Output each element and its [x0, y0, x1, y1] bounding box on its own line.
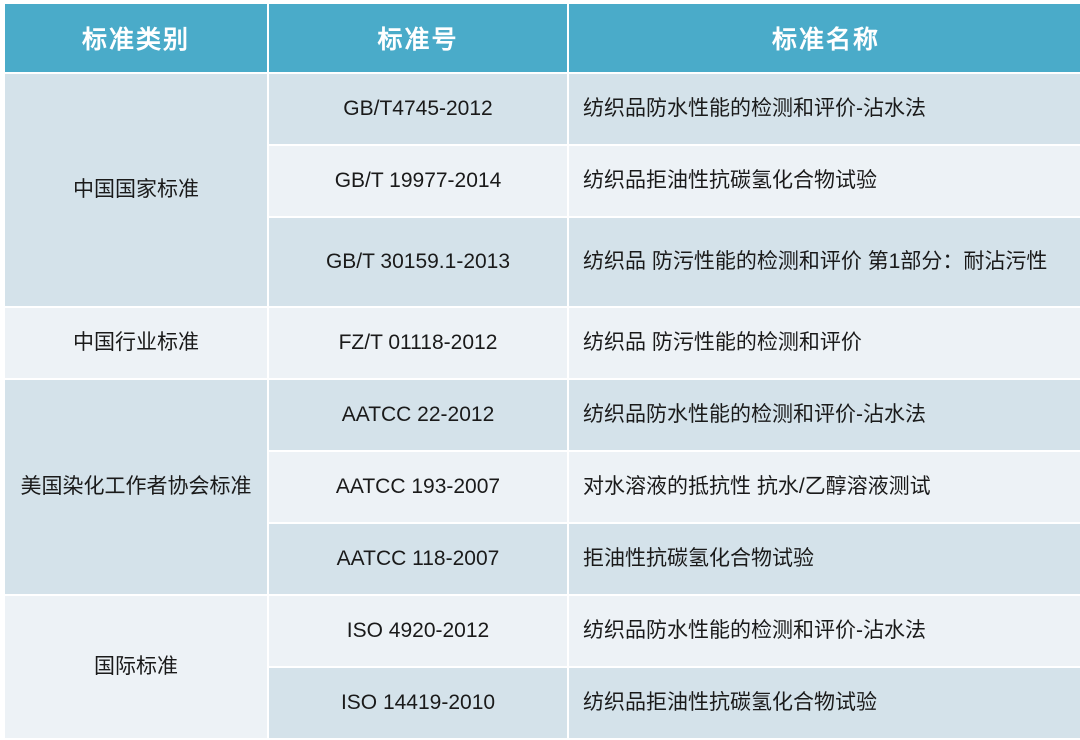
standards-table-container: 标准类别 标准号 标准名称 中国国家标准GB/T4745-2012纺织品防水性能… — [0, 0, 1080, 697]
column-header-number: 标准号 — [269, 4, 567, 72]
category-cell: 中国国家标准 — [5, 74, 267, 306]
standard-number-cell: FZ/T 01118-2012 — [269, 308, 567, 378]
standard-name-cell: 纺织品 防污性能的检测和评价 — [569, 308, 1080, 378]
standard-number-cell: ISO 14419-2010 — [269, 668, 567, 738]
table-header: 标准类别 标准号 标准名称 — [5, 4, 1080, 72]
table-body: 中国国家标准GB/T4745-2012纺织品防水性能的检测和评价-沾水法GB/T… — [5, 74, 1080, 738]
table-row: 中国国家标准GB/T4745-2012纺织品防水性能的检测和评价-沾水法 — [5, 74, 1080, 144]
table-row: 中国行业标准FZ/T 01118-2012纺织品 防污性能的检测和评价 — [5, 308, 1080, 378]
standard-number-cell: GB/T 19977-2014 — [269, 146, 567, 216]
standard-name-cell: 纺织品防水性能的检测和评价-沾水法 — [569, 74, 1080, 144]
standard-name-cell: 拒油性抗碳氢化合物试验 — [569, 524, 1080, 594]
standard-number-cell: GB/T4745-2012 — [269, 74, 567, 144]
standard-name-cell: 纺织品拒油性抗碳氢化合物试验 — [569, 668, 1080, 738]
column-header-category: 标准类别 — [5, 4, 267, 72]
standard-number-cell: AATCC 22-2012 — [269, 380, 567, 450]
header-row: 标准类别 标准号 标准名称 — [5, 4, 1080, 72]
category-cell: 国际标准 — [5, 596, 267, 738]
standard-number-cell: ISO 4920-2012 — [269, 596, 567, 666]
standard-name-cell: 对水溶液的抵抗性 抗水/乙醇溶液测试 — [569, 452, 1080, 522]
standard-name-cell: 纺织品 防污性能的检测和评价 第1部分：耐沾污性 — [569, 218, 1080, 306]
category-cell: 美国染化工作者协会标准 — [5, 380, 267, 594]
column-header-name: 标准名称 — [569, 4, 1080, 72]
table-row: 国际标准ISO 4920-2012纺织品防水性能的检测和评价-沾水法 — [5, 596, 1080, 666]
category-cell: 中国行业标准 — [5, 308, 267, 378]
standard-number-cell: AATCC 118-2007 — [269, 524, 567, 594]
standards-table: 标准类别 标准号 标准名称 中国国家标准GB/T4745-2012纺织品防水性能… — [3, 2, 1080, 740]
standard-name-cell: 纺织品拒油性抗碳氢化合物试验 — [569, 146, 1080, 216]
standard-name-cell: 纺织品防水性能的检测和评价-沾水法 — [569, 380, 1080, 450]
standard-number-cell: GB/T 30159.1-2013 — [269, 218, 567, 306]
standard-number-cell: AATCC 193-2007 — [269, 452, 567, 522]
standard-name-cell: 纺织品防水性能的检测和评价-沾水法 — [569, 596, 1080, 666]
table-row: 美国染化工作者协会标准AATCC 22-2012纺织品防水性能的检测和评价-沾水… — [5, 380, 1080, 450]
